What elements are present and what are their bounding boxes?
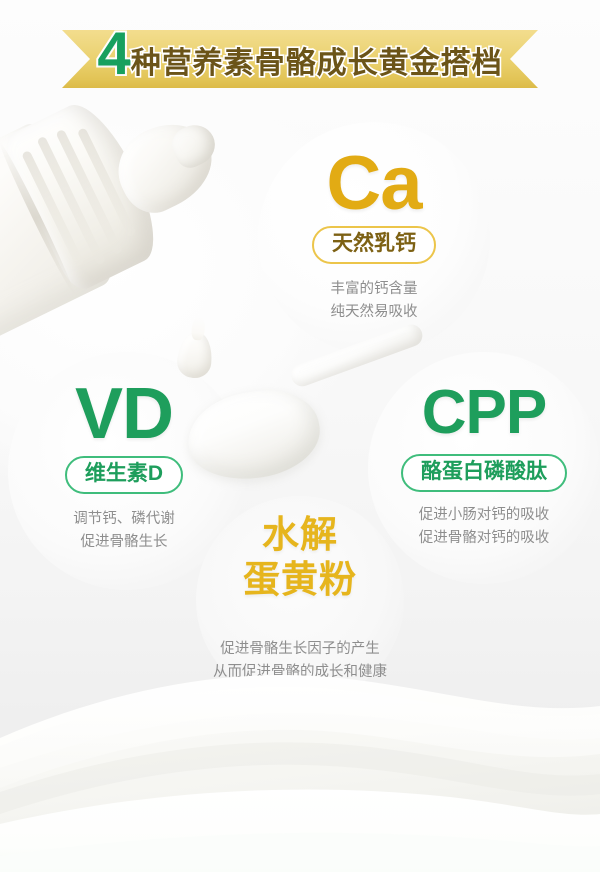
bottle-body <box>0 116 123 362</box>
nutrient-pill-vd: 维生素D <box>65 456 183 494</box>
header-ribbon: 4 种营养素骨骼成长黄金搭档 <box>62 30 538 88</box>
baby-bottle-image <box>0 44 250 357</box>
spoon-handle <box>288 321 425 389</box>
ribbon-number: 4 <box>97 31 129 78</box>
bottle-nipple <box>104 109 225 223</box>
nutrient-symbol-egg: 水解 蛋黄粉 <box>190 512 410 602</box>
bottle-nipple-tip <box>166 118 221 172</box>
nutrient-desc-egg: 促进骨骼生长因子的产生 从而促进骨骼的成长和健康 <box>190 638 410 683</box>
nutrition-poster: 4 种营养素骨骼成长黄金搭档 Ca 天然乳钙 丰富的钙含量 纯天然易吸收 VD … <box>0 0 600 872</box>
nutrient-desc-ca: 丰富的钙含量 纯天然易吸收 <box>246 278 502 323</box>
ribbon-text: 4 种营养素骨骼成长黄金搭档 <box>62 30 538 88</box>
nutrient-block-egg: 水解 蛋黄粉 促进骨骼生长因子的产生 从而促进骨骼的成长和健康 <box>190 512 410 683</box>
milk-drop-icon <box>176 330 215 379</box>
nutrient-symbol-ca: Ca <box>246 146 502 222</box>
nutrient-pill-ca: 天然乳钙 <box>312 226 436 264</box>
nutrient-block-ca: Ca 天然乳钙 丰富的钙含量 纯天然易吸收 <box>246 146 502 323</box>
bottle-ring <box>0 140 77 295</box>
nutrient-symbol-vd: VD <box>0 378 252 450</box>
bottle-collar <box>0 93 171 295</box>
ribbon-title: 种营养素骨骼成长黄金搭档 <box>131 38 503 82</box>
nutrient-pill-cpp: 酪蛋白磷酸肽 <box>401 454 567 492</box>
nutrient-symbol-cpp: CPP <box>358 382 600 444</box>
